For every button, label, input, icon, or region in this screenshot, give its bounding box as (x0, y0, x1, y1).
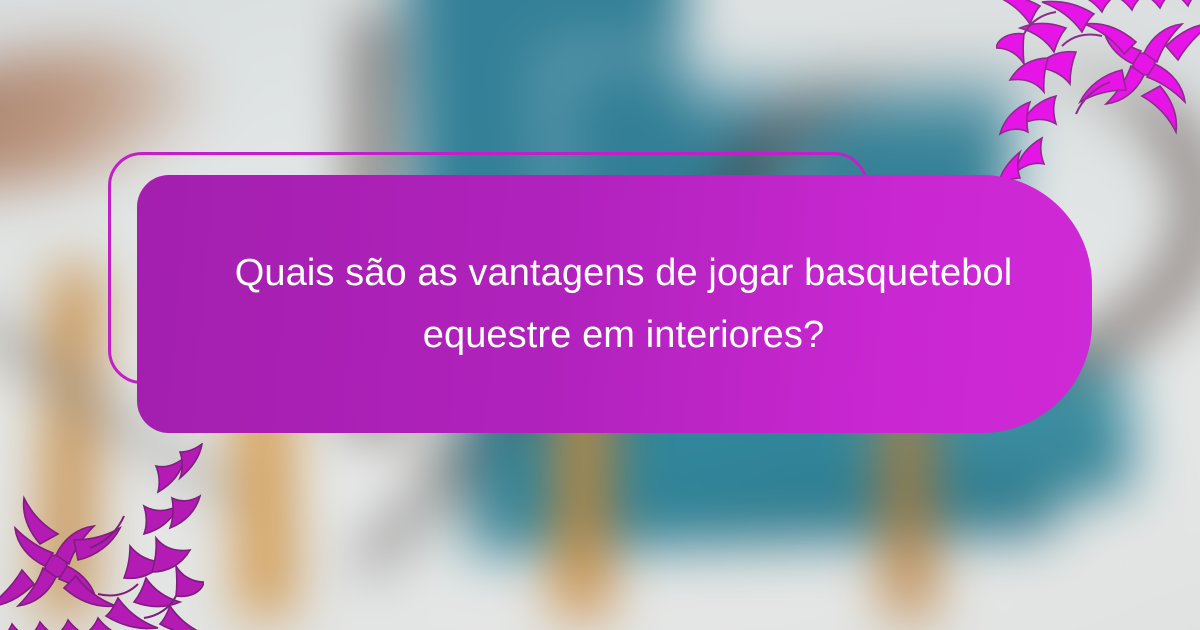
question-text: Quais são as vantagens de jogar basquete… (215, 242, 1032, 366)
floral-damask-corner-ornament-bottom-left (0, 443, 204, 630)
question-card: Quais são as vantagens de jogar basquete… (137, 175, 1092, 433)
floral-damask-corner-ornament-top-right (996, 0, 1200, 187)
question-card-canvas: Quais são as vantagens de jogar basquete… (0, 0, 1200, 630)
